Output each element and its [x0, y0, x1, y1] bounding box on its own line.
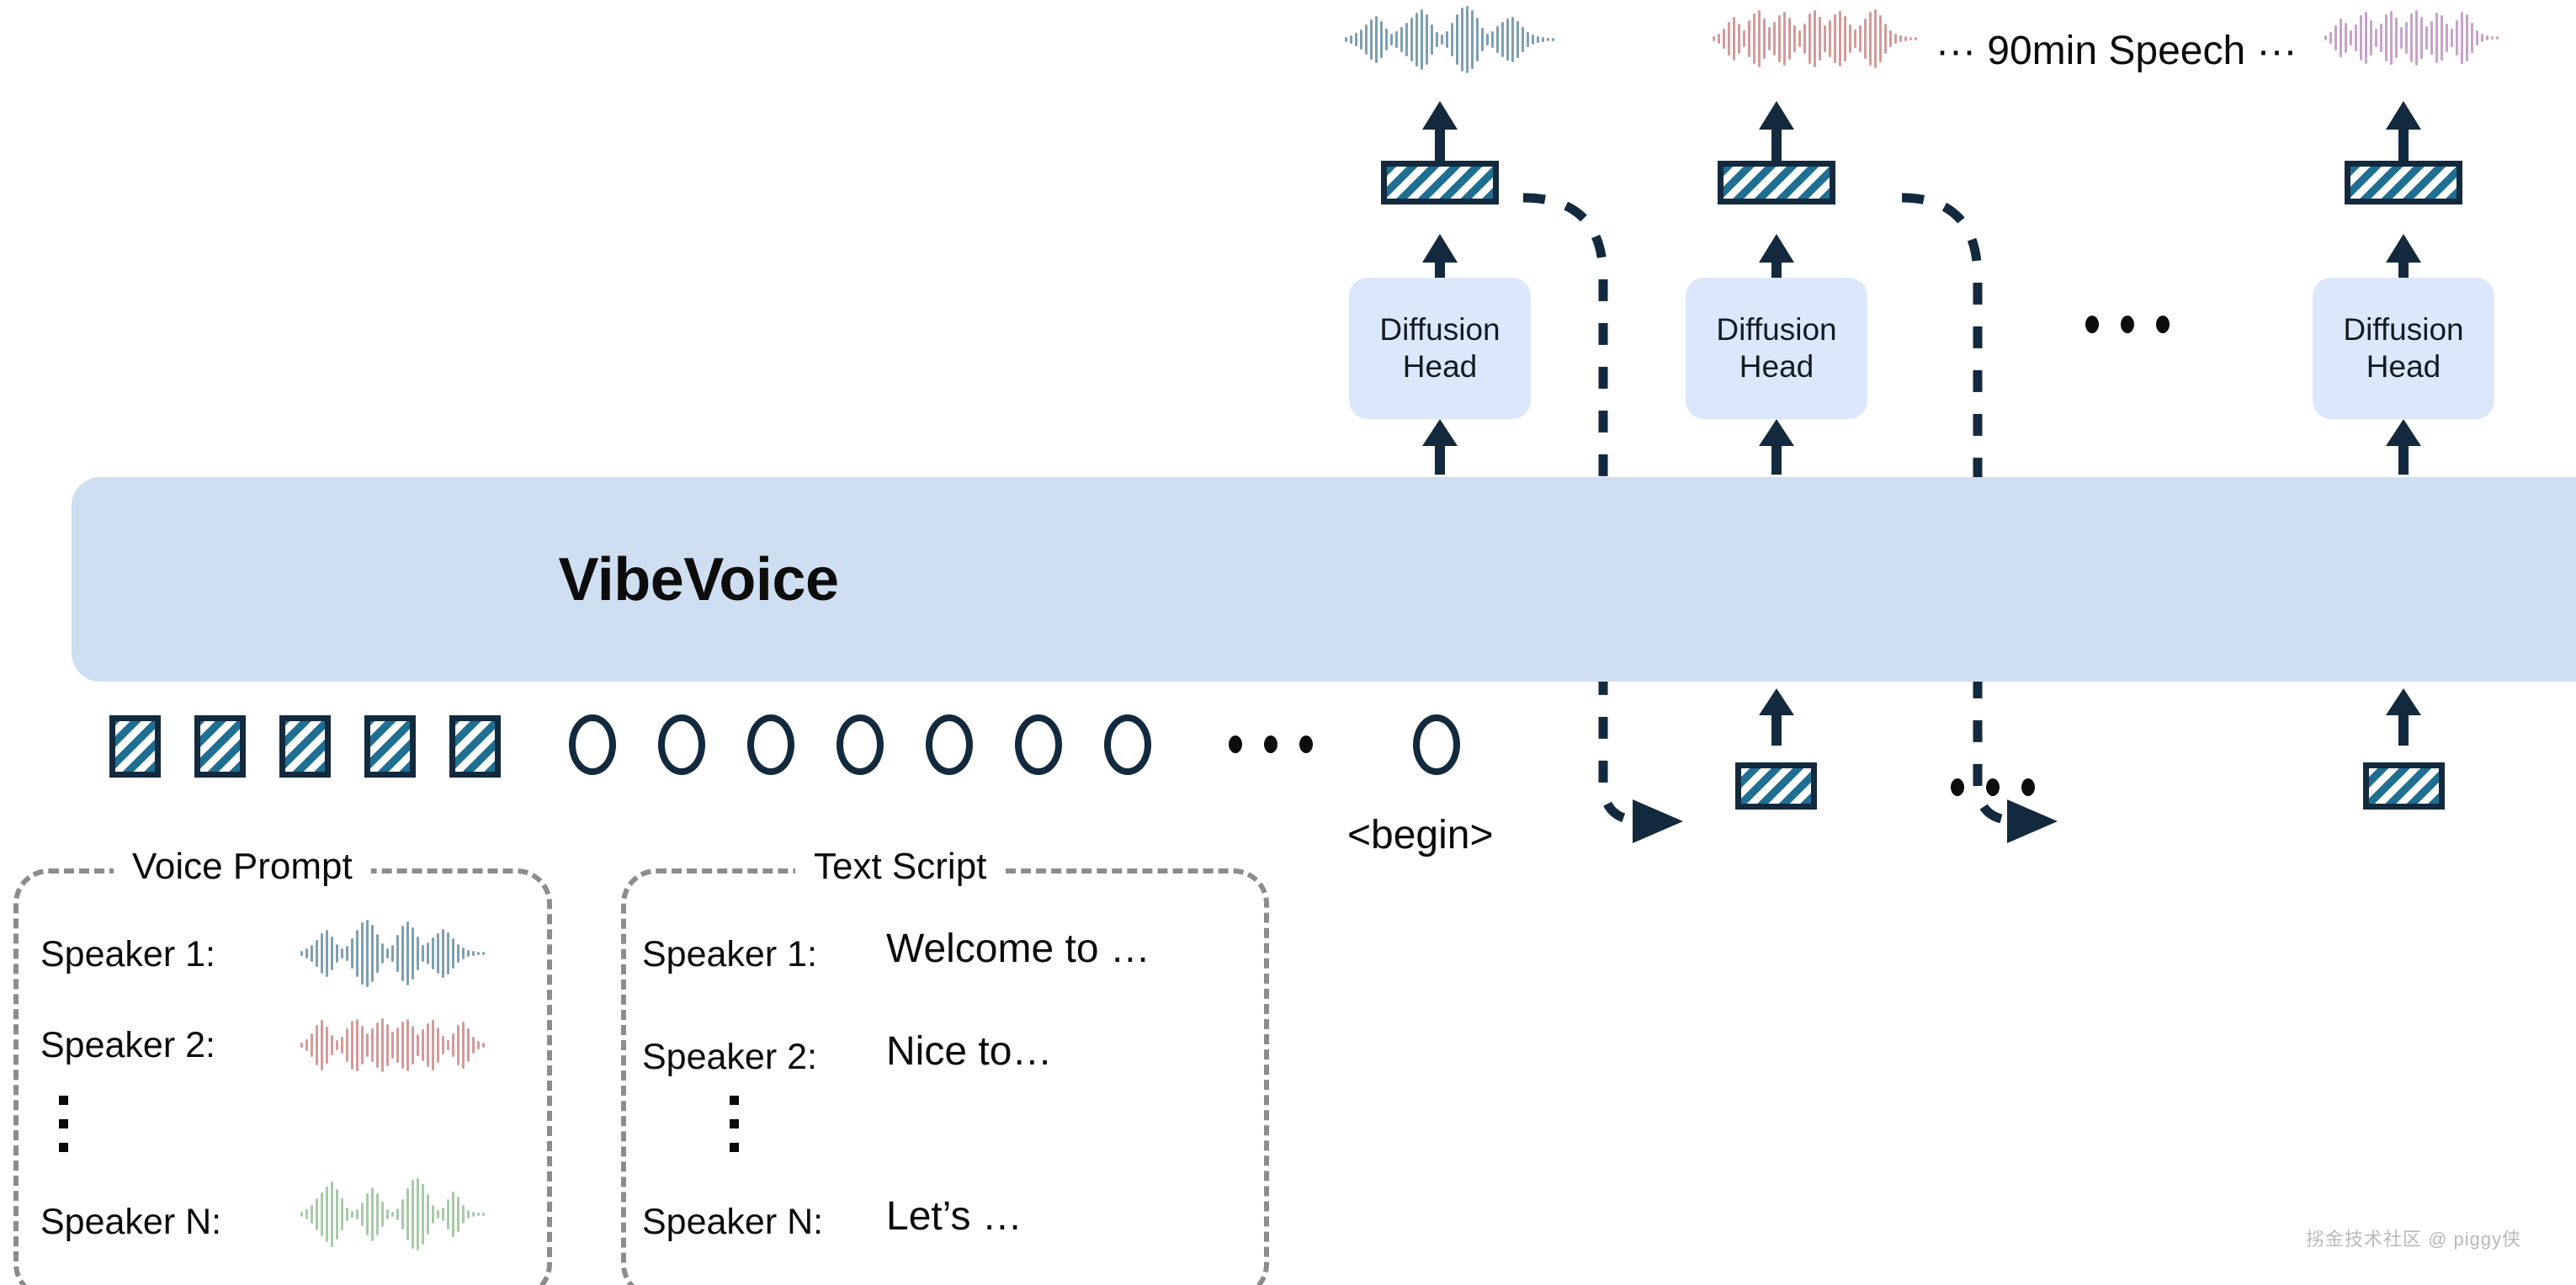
diffusion-head-label-line1: Diffusion	[1379, 311, 1500, 348]
ellipsis-dot	[1229, 735, 1242, 753]
arrow-backbone-to-head-2	[1759, 419, 1794, 475]
ellipsis-dot	[1951, 778, 1964, 796]
text-script-token	[926, 714, 973, 775]
text-script-title: Text Script	[795, 846, 1005, 888]
arrow-backbone-to-head-1	[1422, 419, 1458, 475]
text-script-token	[658, 714, 705, 775]
text-script-row-label: Speaker 1:	[642, 934, 817, 975]
voice-prompt-title: Voice Prompt	[114, 846, 371, 888]
output-latent-token-2	[1718, 161, 1835, 204]
text-script-row-text: Let’s …	[886, 1193, 1022, 1240]
diffusion-head-label-line1: Diffusion	[1716, 311, 1836, 348]
arrow-input-latent-to-backbone-n	[2386, 688, 2421, 746]
voice-prompt-row-label: Speaker 2:	[40, 1025, 215, 1066]
vertical-dot	[730, 1143, 739, 1152]
voice-prompt-row-label: Speaker 1:	[40, 934, 215, 975]
arrow-input-latent-to-backbone-2	[1759, 688, 1794, 746]
voice-prompt-token	[279, 715, 331, 778]
vertical-dot	[59, 1096, 68, 1105]
watermark: 挘金技术社区 @ piggy侠	[2306, 1224, 2521, 1251]
text-script-row-label: Speaker N:	[642, 1202, 823, 1243]
ellipsis-dot	[2085, 316, 2099, 333]
ellipsis-dot	[2021, 778, 2035, 796]
text-script-token	[1015, 714, 1062, 775]
arrow-latent-to-waveform-n	[2386, 101, 2421, 162]
voice-prompt-waveform-2	[299, 1018, 488, 1072]
output-waveform-speaker-1	[1343, 6, 1562, 73]
input-latent-token-2	[1735, 762, 1817, 810]
diffusion-head-n[interactable]: Diffusion Head	[2313, 278, 2494, 419]
begin-token-label: <begin>	[1347, 812, 1494, 858]
voice-prompt-token	[194, 715, 246, 778]
ellipsis-dot	[1299, 735, 1313, 753]
diffusion-head-label-line1: Diffusion	[2343, 311, 2463, 348]
voice-prompt-token	[449, 715, 501, 778]
voice-prompt-token	[109, 715, 161, 778]
vertical-dot	[59, 1119, 68, 1128]
output-latent-token-1	[1381, 161, 1499, 204]
output-waveform-speaker-2	[1711, 8, 1921, 69]
output-waveform-speaker-n	[2323, 10, 2504, 66]
diffusion-head-label-line2: Head	[1739, 348, 1814, 385]
ellipsis-dot	[1986, 778, 2000, 796]
vibevoice-title: VibeVoice	[72, 477, 1325, 682]
text-script-token	[837, 714, 884, 775]
diagram-canvas: ··· 90min Speech ···	[0, 0, 2576, 1285]
input-latent-token-n	[2363, 762, 2445, 810]
ellipsis-dot	[2121, 316, 2134, 333]
diffusion-head-label-line2: Head	[2366, 348, 2441, 385]
text-script-row-label: Speaker 2:	[642, 1037, 817, 1078]
text-script-row-text: Nice to…	[886, 1028, 1052, 1075]
text-script-token	[1104, 714, 1151, 775]
voice-prompt-continuation	[59, 1096, 68, 1152]
input-token-ellipsis	[1229, 735, 1313, 753]
text-script-token	[569, 714, 616, 775]
diffusion-head-ellipsis	[2085, 316, 2170, 333]
arrow-backbone-to-head-n	[2386, 419, 2421, 475]
input-latent-ellipsis	[1951, 778, 2035, 796]
vibevoice-backbone[interactable]: VibeVoice	[72, 477, 2576, 682]
diffusion-head-1[interactable]: Diffusion Head	[1349, 278, 1531, 419]
voice-prompt-waveform-n	[299, 1178, 488, 1250]
text-script-row-text: Welcome to …	[886, 926, 1150, 972]
output-speech-label: ··· 90min Speech ···	[1936, 28, 2297, 74]
arrow-latent-to-waveform-2	[1759, 101, 1794, 162]
ellipsis-dot	[2156, 316, 2170, 333]
text-script-token	[747, 714, 794, 775]
begin-token	[1413, 714, 1460, 775]
diffusion-head-2[interactable]: Diffusion Head	[1686, 278, 1867, 419]
vertical-dot	[730, 1096, 739, 1105]
ellipsis-dot	[1264, 735, 1277, 753]
vertical-dot	[730, 1119, 739, 1128]
output-latent-token-n	[2345, 161, 2462, 204]
diffusion-head-label-line2: Head	[1403, 348, 1477, 385]
arrow-latent-to-waveform-1	[1422, 101, 1458, 162]
voice-prompt-waveform-1	[299, 920, 488, 987]
vertical-dot	[59, 1143, 68, 1152]
voice-prompt-row-label: Speaker N:	[40, 1202, 221, 1243]
text-script-continuation	[730, 1096, 739, 1152]
voice-prompt-token	[364, 715, 416, 778]
